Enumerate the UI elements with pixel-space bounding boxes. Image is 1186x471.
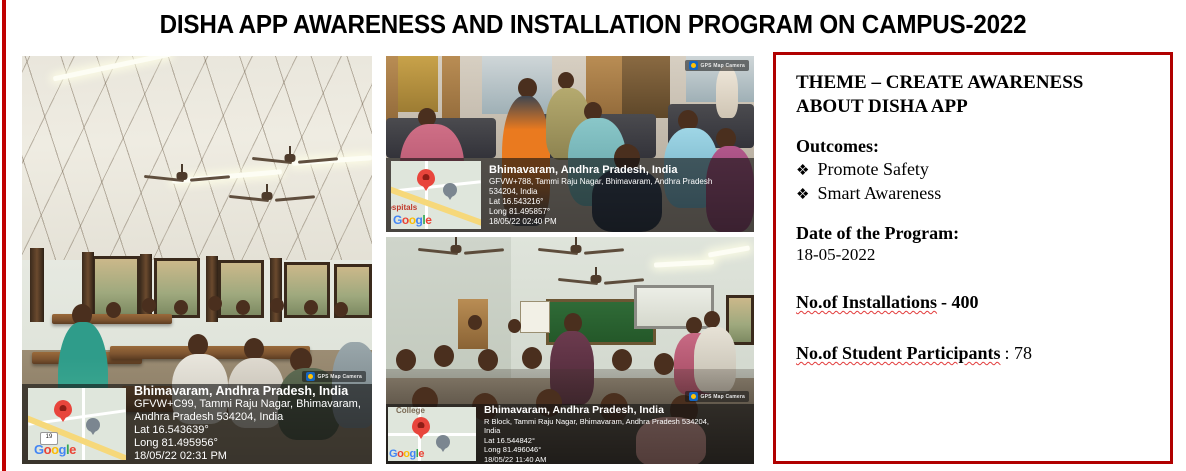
curtain [30,248,44,322]
person-head [518,78,537,98]
gps-overlay: 19 Google Bhimavaram, Andhra Pradesh, In… [22,384,372,464]
gps-camera-icon [689,392,698,401]
notice-board [520,301,550,333]
person-head [686,317,702,334]
gps-address-line: India [484,426,709,436]
person-head [270,298,284,313]
google-logo: Google [389,448,424,460]
person-head [522,347,542,369]
curtain [206,256,218,322]
gps-map-camera-badge: GPS Map Camera [302,371,366,382]
person-head [142,298,156,313]
map-pin [417,169,435,187]
person-head [564,313,582,333]
participants-value: : 78 [1005,343,1033,363]
person-head [434,345,454,367]
gps-timestamp: 18/05/22 11:40 AM [484,455,709,464]
person-head [508,319,521,333]
gps-camera-icon [306,372,315,381]
map-pin-secondary [443,183,457,197]
gps-overlay: College Google Bhimavaram, Andhra Prades… [386,404,754,464]
person-head [396,349,416,371]
person-head [704,311,720,328]
person-head [236,300,250,315]
gps-badge-label: GPS Map Camera [701,394,745,400]
cupboard [622,56,670,118]
gps-latitude: Lat 16.543639° [134,424,361,437]
gps-camera-icon [689,61,698,70]
gps-overlay: ospitals Google Bhimavaram, Andhra Prade… [386,158,754,232]
person-head [612,349,632,371]
participants-label: No.of Student Participants [796,343,1001,363]
page-title: DISHA APP AWARENESS AND INSTALLATION PRO… [0,0,1186,48]
installations-block: No.of Installations - 400 [796,292,1152,313]
shelf [396,56,438,112]
gps-place: Bhimavaram, Andhra Pradesh, India [484,404,709,417]
gps-address-line: R Block, Tammi Raju Nagar, Bhimavaram, A… [484,417,709,427]
google-logo: Google [34,442,76,457]
date-block: Date of the Program: 18-05-2022 [796,223,1152,266]
photo-office-mid-top: GPS Map Camera ospitals Google Bhimavara… [386,56,754,232]
person-head [558,72,574,89]
left-red-edge-stripe [2,0,6,471]
map-place-label: ospitals [391,203,417,212]
person-head [244,338,264,360]
person-head [304,300,318,315]
outcome-text: Promote Safety [817,158,928,181]
gps-longitude: Long 81.495956° [134,437,361,450]
person-head [334,302,348,317]
person-head [468,315,482,330]
gps-map-camera-badge: GPS Map Camera [685,391,749,402]
gps-badge-label: GPS Map Camera [318,374,362,380]
installations-label: No.of Installations [796,292,937,312]
outcomes-list: ❖ Promote Safety ❖ Smart Awareness [796,158,1152,205]
gps-address-line: GFVW+788, Tammi Raju Nagar, Bhimavaram, … [489,177,712,187]
gps-place: Bhimavaram, Andhra Pradesh, India [134,385,361,398]
theme-heading: THEME – CREATE AWARENESS ABOUT DISHA APP [796,71,1152,118]
outcomes-label: Outcomes: [796,136,1152,157]
gps-address-line: Andhra Pradesh 534204, India [134,411,361,424]
gps-longitude: Long 81.496046° [484,445,709,455]
gps-place: Bhimavaram, Andhra Pradesh, India [489,163,712,177]
outcomes-block: Outcomes: ❖ Promote Safety ❖ Smart Aware… [796,136,1152,205]
date-label: Date of the Program: [796,223,1152,244]
slide-canvas: DISHA APP AWARENESS AND INSTALLATION PRO… [0,0,1186,471]
map-pin [54,400,72,418]
gps-longitude: Long 81.495857° [489,207,712,217]
standing-person [716,66,738,118]
list-item: ❖ Smart Awareness [796,182,1152,206]
person-head [208,296,222,311]
gps-map-camera-badge: GPS Map Camera [685,60,749,71]
gps-timestamp: 18/05/22 02:40 PM [489,217,712,227]
map-place-label: College [396,407,425,415]
page-title-text: DISHA APP AWARENESS AND INSTALLATION PRO… [160,9,1027,40]
gps-map-thumbnail: 19 Google [28,388,126,460]
gps-address-line: GFVW+C99, Tammi Raju Nagar, Bhimavaram, [134,398,361,411]
projector-screen [634,285,714,329]
map-pin [412,417,430,435]
person-head [188,334,208,356]
gps-map-thumbnail: ospitals Google [391,161,481,229]
gps-text-block: Bhimavaram, Andhra Pradesh, India GFVW+C… [126,384,367,464]
gps-latitude: Lat 16.544842° [484,436,709,446]
photo-lecturehall-mid-bottom: GPS Map Camera College Google Bhimavaram… [386,237,754,464]
map-pin-secondary [86,418,100,432]
installations-value: - 400 [941,292,979,312]
info-panel: THEME – CREATE AWARENESS ABOUT DISHA APP… [773,52,1173,464]
outcome-text: Smart Awareness [817,182,941,205]
person-head [174,300,188,315]
photo-classroom-left: GPS Map Camera 19 Google Bhimavaram, And… [22,56,372,464]
diamond-bullet-icon: ❖ [796,162,809,182]
date-value: 18-05-2022 [796,244,1152,266]
gps-latitude: Lat 16.543216° [489,197,712,207]
gps-badge-label: GPS Map Camera [701,63,745,69]
map-pin-secondary [436,435,450,449]
gps-text-block: Bhimavaram, Andhra Pradesh, India R Bloc… [476,404,715,464]
person-head [106,302,121,318]
google-logo: Google [393,213,431,227]
participants-block: No.of Student Participants : 78 [796,343,1152,364]
person-head [654,353,674,375]
gps-address-line: 534204, India [489,187,712,197]
person-head [478,349,498,371]
diamond-bullet-icon: ❖ [796,186,809,206]
gps-text-block: Bhimavaram, Andhra Pradesh, India GFVW+7… [481,158,718,232]
list-item: ❖ Promote Safety [796,158,1152,182]
gps-timestamp: 18/05/22 02:31 PM [134,450,361,463]
gps-map-thumbnail: College Google [388,407,476,461]
